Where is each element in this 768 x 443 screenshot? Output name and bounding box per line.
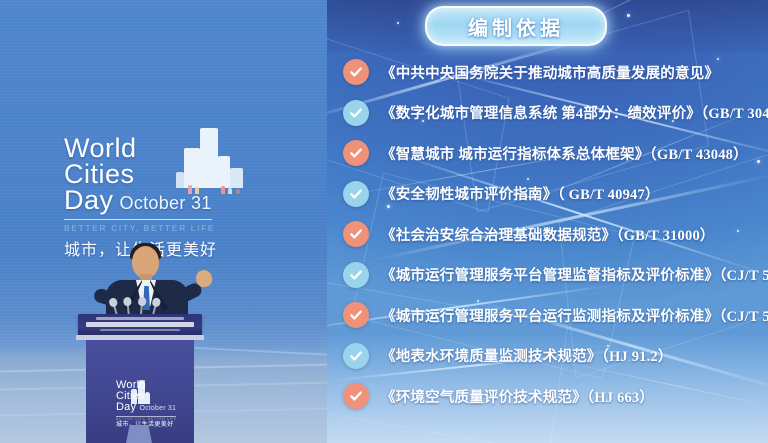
logo-divider [64,219,212,220]
logo-tagline: BETTER CITY, BETTER LIFE [64,223,228,233]
bullet-text: 《安全韧性城市评价指南》（ GB/T 40947） [381,183,660,204]
slide-title-pill: 编制依据 [425,6,607,46]
podium-logo-date: October 31 [139,405,176,412]
check-icon [343,343,369,369]
venue-backdrop: World Cities Day October 31 BETTER CITY,… [0,0,330,443]
bullet-row: 《环境空气质量评价技术规范》（HJ 663） [335,376,768,417]
logo-date: October 31 [120,195,212,212]
podium-base [126,425,152,443]
bullet-row: 《城市运行管理服务平台运行监测指标及评价标准》（CJ/T 552 [335,295,768,336]
slide-bullet-list: 《中共中央国务院关于推动城市高质量发展的意见》《数字化城市管理信息系统 第4部分… [335,52,768,417]
check-icon [343,140,369,166]
podium-header-banner [78,314,202,336]
sparkle [397,22,399,24]
bullet-text: 《城市运行管理服务平台运行监测指标及评价标准》（CJ/T 552 [381,305,768,326]
bullet-text: 《数字化城市管理信息系统 第4部分：绩效评价》（GB/T 30428 [381,102,768,123]
bullet-text: 《地表水环境质量监测技术规范》（HJ 91.2） [381,345,673,366]
check-icon [343,59,369,85]
podium: World Cities Day October 31 BETTER CITY,… [78,314,202,443]
projection-screen: 编制依据 《中共中央国务院关于推动城市高质量发展的意见》《数字化城市管理信息系统… [327,0,768,443]
check-icon [343,302,369,328]
bullet-text: 《中共中央国务院关于推动城市高质量发展的意见》 [381,62,719,83]
bullet-text: 《城市运行管理服务平台管理监督指标及评价标准》（CJ/T 551 [381,264,768,285]
podium-logo-chinese-slogan: 城市，让生活更美好 [116,422,182,428]
bullet-row: 《智慧城市 城市运行指标体系总体框架》（GB/T 43048） [335,133,768,174]
bullet-row: 《安全韧性城市评价指南》（ GB/T 40947） [335,174,768,215]
podium-logo-line-day: Day [116,401,136,413]
podium-logo: World Cities Day October 31 BETTER CITY,… [116,380,182,428]
slide-title: 编制依据 [468,12,564,41]
bullet-text: 《社会治安综合治理基础数据规范》（GB/T 31000） [381,224,715,245]
bullet-text: 《智慧城市 城市运行指标体系总体框架》（GB/T 43048） [381,143,748,164]
screenshot-root: World Cities Day October 31 BETTER CITY,… [0,0,768,443]
bullet-row: 《城市运行管理服务平台管理监督指标及评价标准》（CJ/T 551 [335,255,768,296]
check-icon [343,262,369,288]
sparkle [627,14,630,17]
bullet-row: 《社会治安综合治理基础数据规范》（GB/T 31000） [335,214,768,255]
bullet-row: 《数字化城市管理信息系统 第4部分：绩效评价》（GB/T 30428 [335,93,768,134]
podium-logo-tagline: BETTER CITY, BETTER LIFE [116,418,182,422]
bullet-text: 《环境空气质量评价技术规范》（HJ 663） [381,386,654,407]
city-skyline-icon [174,128,244,194]
check-icon [343,100,369,126]
logo-line-day: Day [64,188,114,214]
check-icon [343,181,369,207]
bullet-row: 《地表水环境质量监测技术规范》（HJ 91.2） [335,336,768,377]
bullet-row: 《中共中央国务院关于推动城市高质量发展的意见》 [335,52,768,93]
world-cities-day-logo: World Cities Day October 31 BETTER CITY,… [64,136,228,260]
check-icon [343,221,369,247]
check-icon [343,383,369,409]
